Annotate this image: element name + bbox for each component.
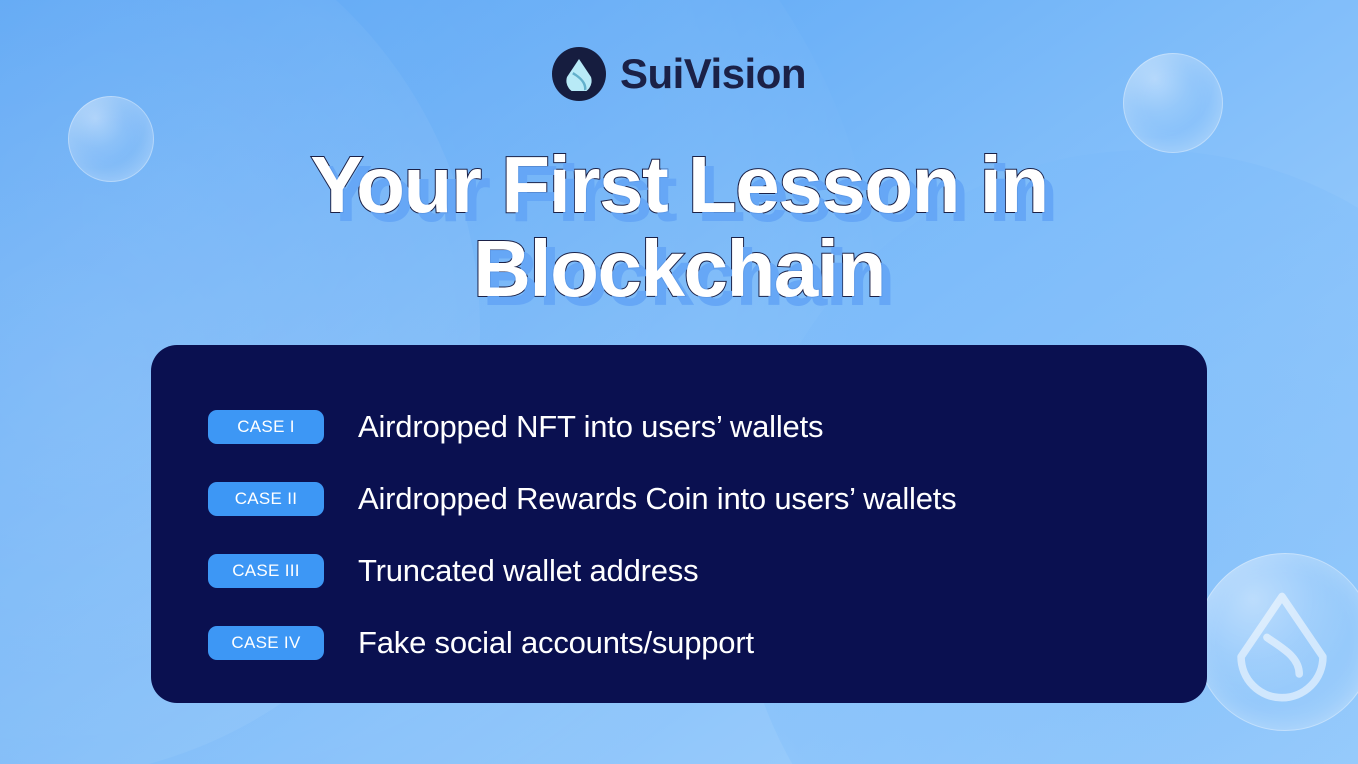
cases-card: CASE I Airdropped NFT into users’ wallet… <box>151 345 1207 703</box>
case-badge: CASE III <box>208 554 324 588</box>
case-description: Airdropped Rewards Coin into users’ wall… <box>358 481 956 517</box>
case-row: CASE IV Fake social accounts/support <box>208 607 1207 679</box>
case-description: Airdropped NFT into users’ wallets <box>358 409 823 445</box>
sui-droplet-icon <box>552 47 606 101</box>
page-title-line-2: Blockchain <box>0 227 1358 311</box>
case-badge: CASE I <box>208 410 324 444</box>
case-row: CASE I Airdropped NFT into users’ wallet… <box>208 391 1207 463</box>
case-badge: CASE IV <box>208 626 324 660</box>
brand-wordmark: SuiVision <box>620 50 806 98</box>
watermark-droplet-icon <box>1228 590 1336 702</box>
case-row: CASE II Airdropped Rewards Coin into use… <box>208 463 1207 535</box>
bubble-bottom-right-icon <box>1196 553 1358 731</box>
case-row: CASE III Truncated wallet address <box>208 535 1207 607</box>
case-badge: CASE II <box>208 482 324 516</box>
page-title-line-1: Your First Lesson in <box>0 143 1358 227</box>
page-title: Your First Lesson in Blockchain <box>0 143 1358 311</box>
case-description: Truncated wallet address <box>358 553 698 589</box>
case-description: Fake social accounts/support <box>358 625 754 661</box>
brand-logo: SuiVision <box>0 47 1358 101</box>
